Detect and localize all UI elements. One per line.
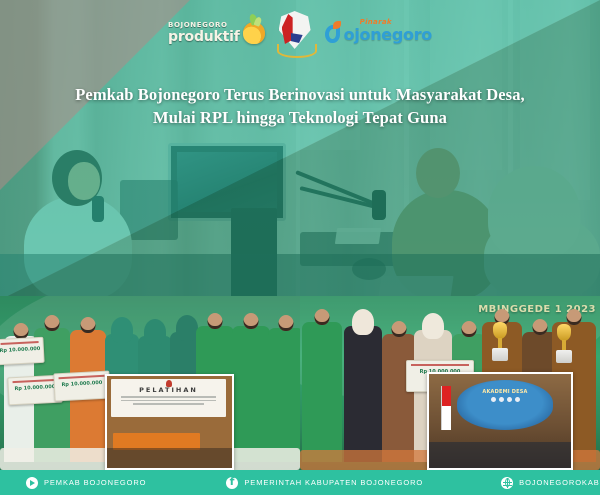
person-hijab [352,309,374,335]
person-head [315,309,330,325]
award-plaque: Rp 10.000.000 [53,371,110,402]
plaque-line [1,341,39,345]
training-banner: PELATIHAN [111,379,226,417]
seminar-screen-logos [457,397,553,402]
person-hijab [422,313,444,339]
jar-leaf-icon [243,22,265,44]
person-hijab [176,315,198,341]
plaque-line [13,379,57,383]
banner-logo-icon [166,380,172,387]
footer-social-bar: PEMKAB BOJONEGORO PEMERINTAH KABUPATEN B… [0,470,600,495]
footer-item-youtube[interactable]: PEMKAB BOJONEGORO [26,477,146,489]
plaque-line [59,375,105,379]
person-head [14,323,29,339]
logo-row: BOJONEGORO produktif Pinarak ojonegoro [0,8,600,58]
seal-gold-frame [277,44,317,58]
person-head [279,315,294,331]
seminar-screen-title: AKADEMI DESA [457,389,553,395]
inset-photo-training: PELATIHAN [105,374,234,470]
person-head [45,315,60,331]
person-head [462,321,477,337]
person-in-group [344,326,382,462]
headline-line-1: Pemkab Bojonegoro Terus Berinovasi untuk… [75,85,525,104]
footer-label-facebook: PEMERINTAH KABUPATEN BOJONEGORO [244,478,423,487]
b-swirl-icon [325,22,342,44]
person-in-group [302,322,342,462]
logo-produktif-top-label: BOJONEGORO [168,22,240,29]
person-head [81,317,96,333]
logo-pinarak-bojonegoro: Pinarak ojonegoro [325,22,432,44]
facebook-icon[interactable] [226,477,238,489]
person-head [567,309,582,325]
person-head [392,321,407,337]
person-in-group [382,334,416,462]
seminar-screen: AKADEMI DESA [457,380,553,430]
trophy-icon [492,322,508,362]
banner-line [121,400,216,402]
trophy-base [492,348,508,361]
youtube-icon[interactable] [26,477,38,489]
banner-line [121,396,216,398]
trophy-cup [493,322,507,339]
logo-pinarak-small-label: Pinarak [360,19,392,26]
seminar-audience [429,442,571,468]
inset-photo-seminar: AKADEMI DESA [427,372,573,470]
person-in-group [268,328,300,462]
footer-label-youtube: PEMKAB BOJONEGORO [44,478,146,487]
logo-pinarak-text: Pinarak ojonegoro [344,27,432,44]
logo-pinarak-main-label: ojonegoro [344,25,432,44]
person-hijab [144,319,166,345]
banner-title: PELATIHAN [111,386,226,394]
logo-produktif-text: BOJONEGORO produktif [168,22,240,44]
footer-item-facebook[interactable]: PEMERINTAH KABUPATEN BOJONEGORO [226,477,423,489]
indonesian-flag [441,386,451,430]
person-head [533,319,548,335]
plaque-amount: Rp 10.000.000 [0,346,43,354]
trophy-cup [557,324,571,341]
banner-line [133,403,204,405]
footer-label-website: BOJONEGOROKAB.GO.ID [519,478,600,487]
social-media-news-card: BOJONEGORO produktif Pinarak ojonegoro P… [0,0,600,495]
person-in-group [232,326,270,462]
globe-meridian [507,478,508,488]
plaque-line [411,364,469,366]
headline: Pemkab Bojonegoro Terus Berinovasi untuk… [30,84,570,130]
award-plaque: Rp 10.000.000 [0,337,45,365]
person-head [244,313,259,329]
plaque-amount: Rp 10.000.000 [55,380,109,389]
logo-produktif-main-label: produktif [168,30,240,44]
person-head [208,313,223,329]
footer-item-website[interactable]: BOJONEGOROKAB.GO.ID [501,477,600,489]
training-foreground [107,448,232,468]
globe-icon[interactable] [501,477,513,489]
logo-bojonegoro-produktif: BOJONEGORO produktif [168,22,265,44]
headline-line-2: Mulai RPL hingga Teknologi Tepat Guna [30,107,570,130]
person-hijab [111,317,133,343]
photo-collage: Rp 10.000.000 Rp 10.000.000 Rp 10.000.00… [0,296,600,470]
trophy-base [556,350,572,363]
regency-seal-icon [273,9,317,57]
trophy-icon [556,324,572,364]
